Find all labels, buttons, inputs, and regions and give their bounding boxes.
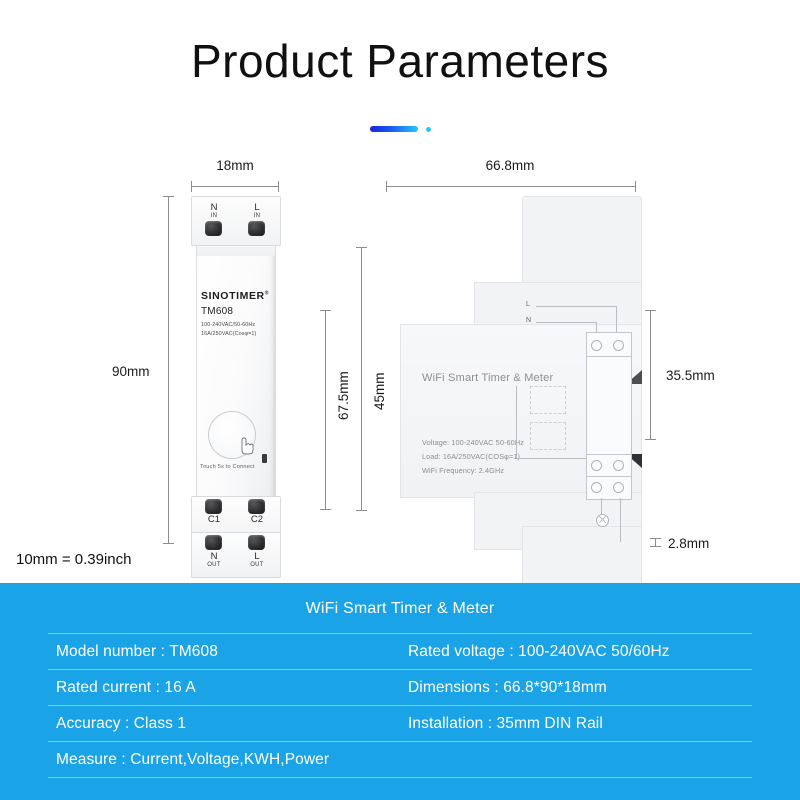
schematic-module-body [586, 356, 632, 456]
wire-return [516, 458, 586, 459]
accent-dot [426, 127, 431, 132]
terminal-label-l-out: L [245, 551, 269, 562]
dim-tick [356, 510, 367, 511]
spec-cell: Rated current : 16 A [48, 679, 398, 697]
dim-line-rail-thickness [655, 538, 656, 547]
terminal-label-c2: C2 [245, 514, 269, 525]
screw-terminal [248, 499, 265, 514]
table-row: Measure : Current,Voltage,KWH,Power [48, 742, 752, 777]
spec-cell: Accuracy : Class 1 [48, 715, 398, 733]
scale-note: 10mm = 0.39inch [16, 551, 131, 568]
dimension-rail-thickness: 2.8mm [668, 536, 709, 551]
schematic-terminal-circle [591, 482, 602, 493]
dim-tick [320, 509, 331, 510]
wire-lamp-feed [601, 498, 602, 514]
dimension-body-height: 67.5mm [336, 371, 351, 420]
wire-lamp-return [620, 498, 621, 542]
dimension-module-height: 45mm [372, 372, 387, 410]
spec-cell: Rated voltage : 100-240VAC 50/60Hz [398, 643, 752, 661]
schematic-dashed-relay-2 [530, 422, 566, 450]
status-led [262, 454, 267, 463]
front-spec-line-2: 16A/250VAC(Cosφ=1) [201, 331, 256, 337]
dim-line-front-height [168, 196, 169, 544]
wire-live-drop [616, 306, 617, 334]
housing-top [522, 196, 642, 290]
terminal-label-n-in: N [202, 202, 226, 213]
wiring-label-neutral: N [526, 317, 531, 324]
dimension-side-depth: 66.8mm [380, 158, 640, 173]
wire-neutral [536, 322, 596, 323]
dim-tick [163, 543, 174, 544]
table-row: Rated current : 16 A Dimensions : 66.8*9… [48, 670, 752, 705]
dim-line-side-depth [386, 186, 636, 187]
dim-tick [635, 181, 636, 192]
model-number: TM608 [201, 306, 233, 317]
dim-tick [356, 247, 367, 248]
terminal-block-top: N IN L IN [191, 196, 281, 246]
spec-table: Model number : TM608 Rated voltage : 100… [48, 633, 752, 778]
spec-cell: Dimensions : 66.8*90*18mm [398, 679, 752, 697]
side-spec-load: Load: 16A/250VAC(COSφ=1) [422, 452, 520, 461]
wire-live [536, 306, 616, 307]
product-parameters-page: Product Parameters 18mm 90mm 67.5mm 45mm… [0, 0, 800, 800]
terminal-block-out: N OUT L OUT [191, 532, 281, 578]
table-row: Accuracy : Class 1 Installation : 35mm D… [48, 706, 752, 741]
dim-tick [386, 181, 387, 192]
schematic-dashed-relay-1 [530, 386, 566, 414]
dim-line-body-height [325, 310, 326, 510]
schematic-terminal-circle [613, 340, 624, 351]
screw-terminal [248, 535, 265, 550]
screw-terminal [248, 221, 265, 236]
terminal-sub-l-out: OUT [245, 562, 269, 568]
dim-tick [191, 181, 192, 192]
schematic-terminal-circle [591, 340, 602, 351]
terminal-label-c1: C1 [202, 514, 226, 525]
side-spec-wifi: WiFi Frequency: 2.4GHz [422, 466, 504, 475]
brand-text: SINOTIMER [201, 290, 265, 302]
terminal-sub-l-in: IN [245, 213, 269, 219]
device-side-view: WiFi Smart Timer & Meter Voltage: 100-24… [430, 196, 640, 556]
dim-line-rail-height [650, 310, 651, 440]
screw-terminal [205, 499, 222, 514]
wire-return-riser [516, 386, 517, 458]
wiring-label-live: L [526, 301, 530, 308]
terminal-label-l-in: L [245, 202, 269, 213]
spec-panel-title: WiFi Smart Timer & Meter [0, 600, 800, 618]
registered-mark-icon: ® [265, 291, 269, 297]
spec-cell: Measure : Current,Voltage,KWH,Power [48, 751, 398, 769]
schematic-terminal-circle [613, 460, 624, 471]
dim-line-module-height [361, 247, 362, 511]
dim-tick [278, 181, 279, 192]
terminal-label-n-out: N [202, 551, 226, 562]
spec-cell: Model number : TM608 [48, 643, 398, 661]
terminal-sub-n-in: IN [202, 213, 226, 219]
hand-pointer-icon [236, 436, 258, 456]
dim-tick [320, 310, 331, 311]
dimension-front-width: 18mm [191, 158, 279, 173]
dimension-front-height: 90mm [112, 364, 150, 379]
page-title: Product Parameters [0, 34, 800, 88]
table-row: Model number : TM608 Rated voltage : 100… [48, 634, 752, 669]
dim-tick [645, 310, 656, 311]
spec-cell: Installation : 35mm DIN Rail [398, 715, 752, 733]
schematic-terminal-circle [591, 460, 602, 471]
spec-panel: WiFi Smart Timer & Meter Model number : … [0, 583, 800, 800]
schematic-terminal-circle [613, 482, 624, 493]
table-divider [48, 777, 752, 778]
touch-instruction-text: Touch 5s to Connect [200, 464, 255, 470]
accent-bar [370, 126, 418, 132]
lamp-symbol-icon [596, 514, 609, 527]
brand-name: SINOTIMER® [201, 290, 269, 302]
screw-terminal [205, 221, 222, 236]
screw-terminal [205, 535, 222, 550]
device-front-view: N IN L IN SINOTIMER® TM608 100-240VAC/50… [191, 196, 279, 544]
front-spec-line-1: 100-240VAC/50-60Hz [201, 322, 255, 328]
dim-tick [163, 196, 174, 197]
dim-line-front-width [191, 186, 279, 187]
side-view-label: WiFi Smart Timer & Meter [422, 372, 553, 384]
side-spec-voltage: Voltage: 100-240VAC 50-60Hz [422, 438, 524, 447]
dim-tick [645, 439, 656, 440]
accent-divider [0, 124, 800, 134]
dimension-rail-height: 35.5mm [666, 368, 715, 383]
terminal-sub-n-out: OUT [202, 562, 226, 568]
